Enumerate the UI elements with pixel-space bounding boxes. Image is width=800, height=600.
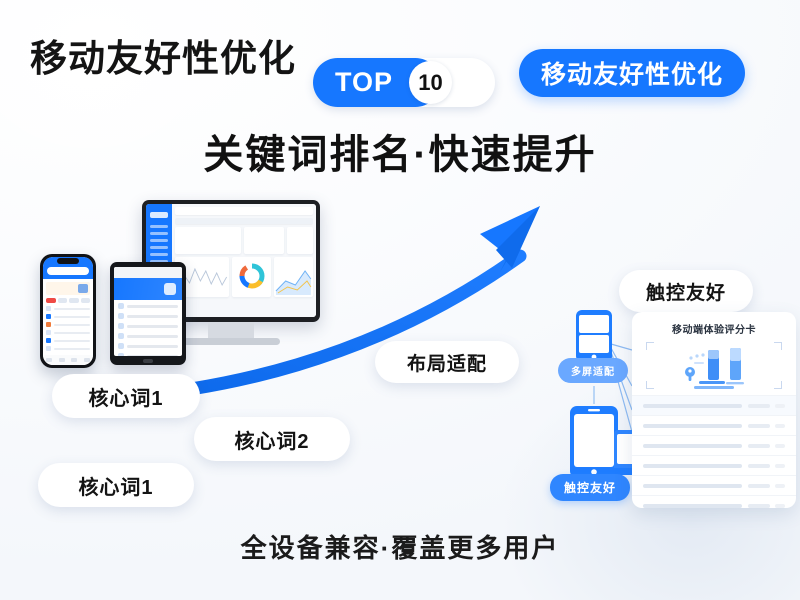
dashboard-donut-chart	[232, 257, 271, 297]
tabbar-icon	[84, 358, 90, 362]
table-row	[632, 475, 796, 495]
list-item-icon	[118, 303, 124, 309]
row-delta	[775, 464, 785, 468]
corner-bracket-icon	[774, 342, 782, 350]
list-item-icon	[118, 343, 124, 349]
quick-action-icon	[69, 298, 79, 303]
top-rank-badge: TOP 10	[313, 58, 495, 107]
keyword-pill-2: 核心词2	[194, 417, 350, 461]
row-delta	[775, 404, 785, 408]
list-item-icon	[118, 353, 124, 356]
dashboard-card-row	[175, 227, 313, 254]
row-metric	[643, 464, 742, 468]
list-item-text	[54, 308, 90, 310]
promo-thumb-icon	[78, 284, 88, 293]
large-phone-icon	[570, 406, 618, 478]
list-item-icon	[46, 306, 51, 311]
keyword-pill-1: 核心词1	[52, 374, 200, 418]
row-value	[748, 404, 770, 408]
list-item-icon	[46, 314, 51, 319]
row-metric	[643, 504, 742, 508]
tablet-mockup	[110, 262, 186, 365]
monitor-stand	[208, 322, 254, 338]
table-row	[632, 455, 796, 475]
list-item-icon	[118, 323, 124, 329]
list-item-text	[54, 316, 90, 318]
dashboard-topbar	[175, 207, 313, 215]
list-item	[118, 353, 178, 356]
row-value	[748, 464, 770, 468]
tabbar-icon	[71, 358, 77, 362]
table-row	[632, 415, 796, 435]
list-item-icon	[46, 330, 51, 335]
page-title: 移动友好性优化	[30, 28, 296, 82]
tablet-header	[114, 267, 182, 278]
row-delta	[775, 444, 785, 448]
list-item	[43, 314, 93, 319]
quick-action-row	[43, 298, 93, 306]
score-card-title: 移动端体验评分卡	[632, 312, 796, 340]
list-item-text	[127, 355, 178, 357]
sidebar-item	[150, 232, 168, 235]
touch-friendly-label: 触控友好	[550, 474, 630, 501]
sidebar-item	[150, 253, 168, 256]
tablet-list	[114, 300, 182, 356]
row-metric	[643, 484, 742, 488]
table-row	[632, 435, 796, 455]
tablet-screen	[114, 267, 182, 356]
list-item-icon	[118, 313, 124, 319]
row-value	[748, 504, 770, 508]
search-input[interactable]	[47, 267, 89, 275]
list-item-icon	[46, 322, 51, 327]
tabbar-icon	[59, 358, 65, 362]
corner-bracket-icon	[646, 381, 654, 389]
list-item-icon	[46, 346, 51, 351]
list-item	[118, 323, 178, 329]
list-item-text	[127, 305, 178, 308]
sidebar-item	[150, 239, 168, 242]
keyword-pill-touch-friendly: 触控友好	[619, 270, 753, 312]
header-tag-pill: 移动友好性优化	[519, 49, 745, 97]
row-metric	[643, 404, 742, 408]
keyword-pill-layout-adapt: 布局适配	[375, 341, 519, 383]
row-value	[748, 444, 770, 448]
dashboard-card-row	[175, 257, 313, 297]
smartphone-mockup	[40, 254, 96, 368]
list-item-text	[127, 315, 178, 318]
tablet-banner	[114, 278, 182, 300]
list-item-text	[54, 324, 90, 326]
list-item-text	[54, 348, 90, 350]
table-row	[632, 395, 796, 415]
quick-action-icon	[81, 298, 91, 303]
tablet-home-button	[143, 359, 153, 363]
banner-thumbnail	[164, 283, 176, 295]
list-item	[118, 313, 178, 319]
dashboard-card	[175, 227, 241, 254]
list-item	[118, 303, 178, 309]
corner-bracket-icon	[774, 381, 782, 389]
list-item	[43, 306, 93, 311]
dashboard-card	[244, 227, 284, 254]
tabbar-icon	[46, 358, 52, 362]
quick-action-icon	[58, 298, 68, 303]
promo-banner	[46, 282, 90, 295]
phone-tabbar	[43, 355, 93, 365]
row-delta	[775, 424, 785, 428]
row-delta	[775, 484, 785, 488]
dashboard-area-chart	[274, 257, 313, 297]
small-phone-icon-top	[576, 310, 612, 362]
row-value	[748, 484, 770, 488]
sidebar-item	[150, 246, 168, 249]
row-metric	[643, 424, 742, 428]
quick-action-icon	[46, 298, 56, 303]
poster-canvas: 移动友好性优化 TOP 10 移动友好性优化 关键词排名·快速提升	[0, 0, 800, 600]
list-item-icon	[118, 333, 124, 339]
mobile-experience-diagram: 多屏适配 触控友好 移动端体验评分卡	[548, 308, 800, 523]
corner-bracket-icon	[646, 342, 654, 350]
badge-top-label: TOP	[335, 67, 393, 98]
list-item	[43, 322, 93, 327]
list-item-text	[127, 325, 178, 328]
row-delta	[775, 504, 785, 508]
device-cluster	[32, 192, 322, 377]
list-item-icon	[46, 338, 51, 343]
badge-number: 10	[409, 61, 452, 104]
list-item-text	[127, 345, 178, 348]
page-footer-text: 全设备兼容·覆盖更多用户	[0, 528, 800, 565]
list-item	[118, 343, 178, 349]
bar-chart-illustration	[646, 342, 782, 389]
row-value	[748, 424, 770, 428]
multi-screen-label: 多屏适配	[558, 358, 628, 383]
dashboard-filterbar	[175, 218, 313, 224]
keyword-pill-3: 核心词1	[38, 463, 194, 507]
table-row	[632, 495, 796, 508]
phone-notch	[57, 258, 79, 264]
row-metric	[643, 444, 742, 448]
list-item	[118, 333, 178, 339]
monitor-base	[182, 338, 280, 345]
dashboard-main	[172, 204, 316, 317]
list-item-text	[127, 335, 178, 338]
dashboard-card	[287, 227, 313, 254]
list-item	[43, 338, 93, 343]
list-item	[43, 330, 93, 335]
sidebar-item	[150, 225, 168, 228]
list-item	[43, 346, 93, 351]
dashboard-logo	[150, 212, 168, 218]
list-item-text	[54, 332, 90, 334]
list-item-text	[54, 340, 90, 342]
score-card-chart	[646, 342, 782, 389]
phone-screen	[43, 257, 93, 365]
score-card: 移动端体验评分卡	[632, 312, 796, 508]
